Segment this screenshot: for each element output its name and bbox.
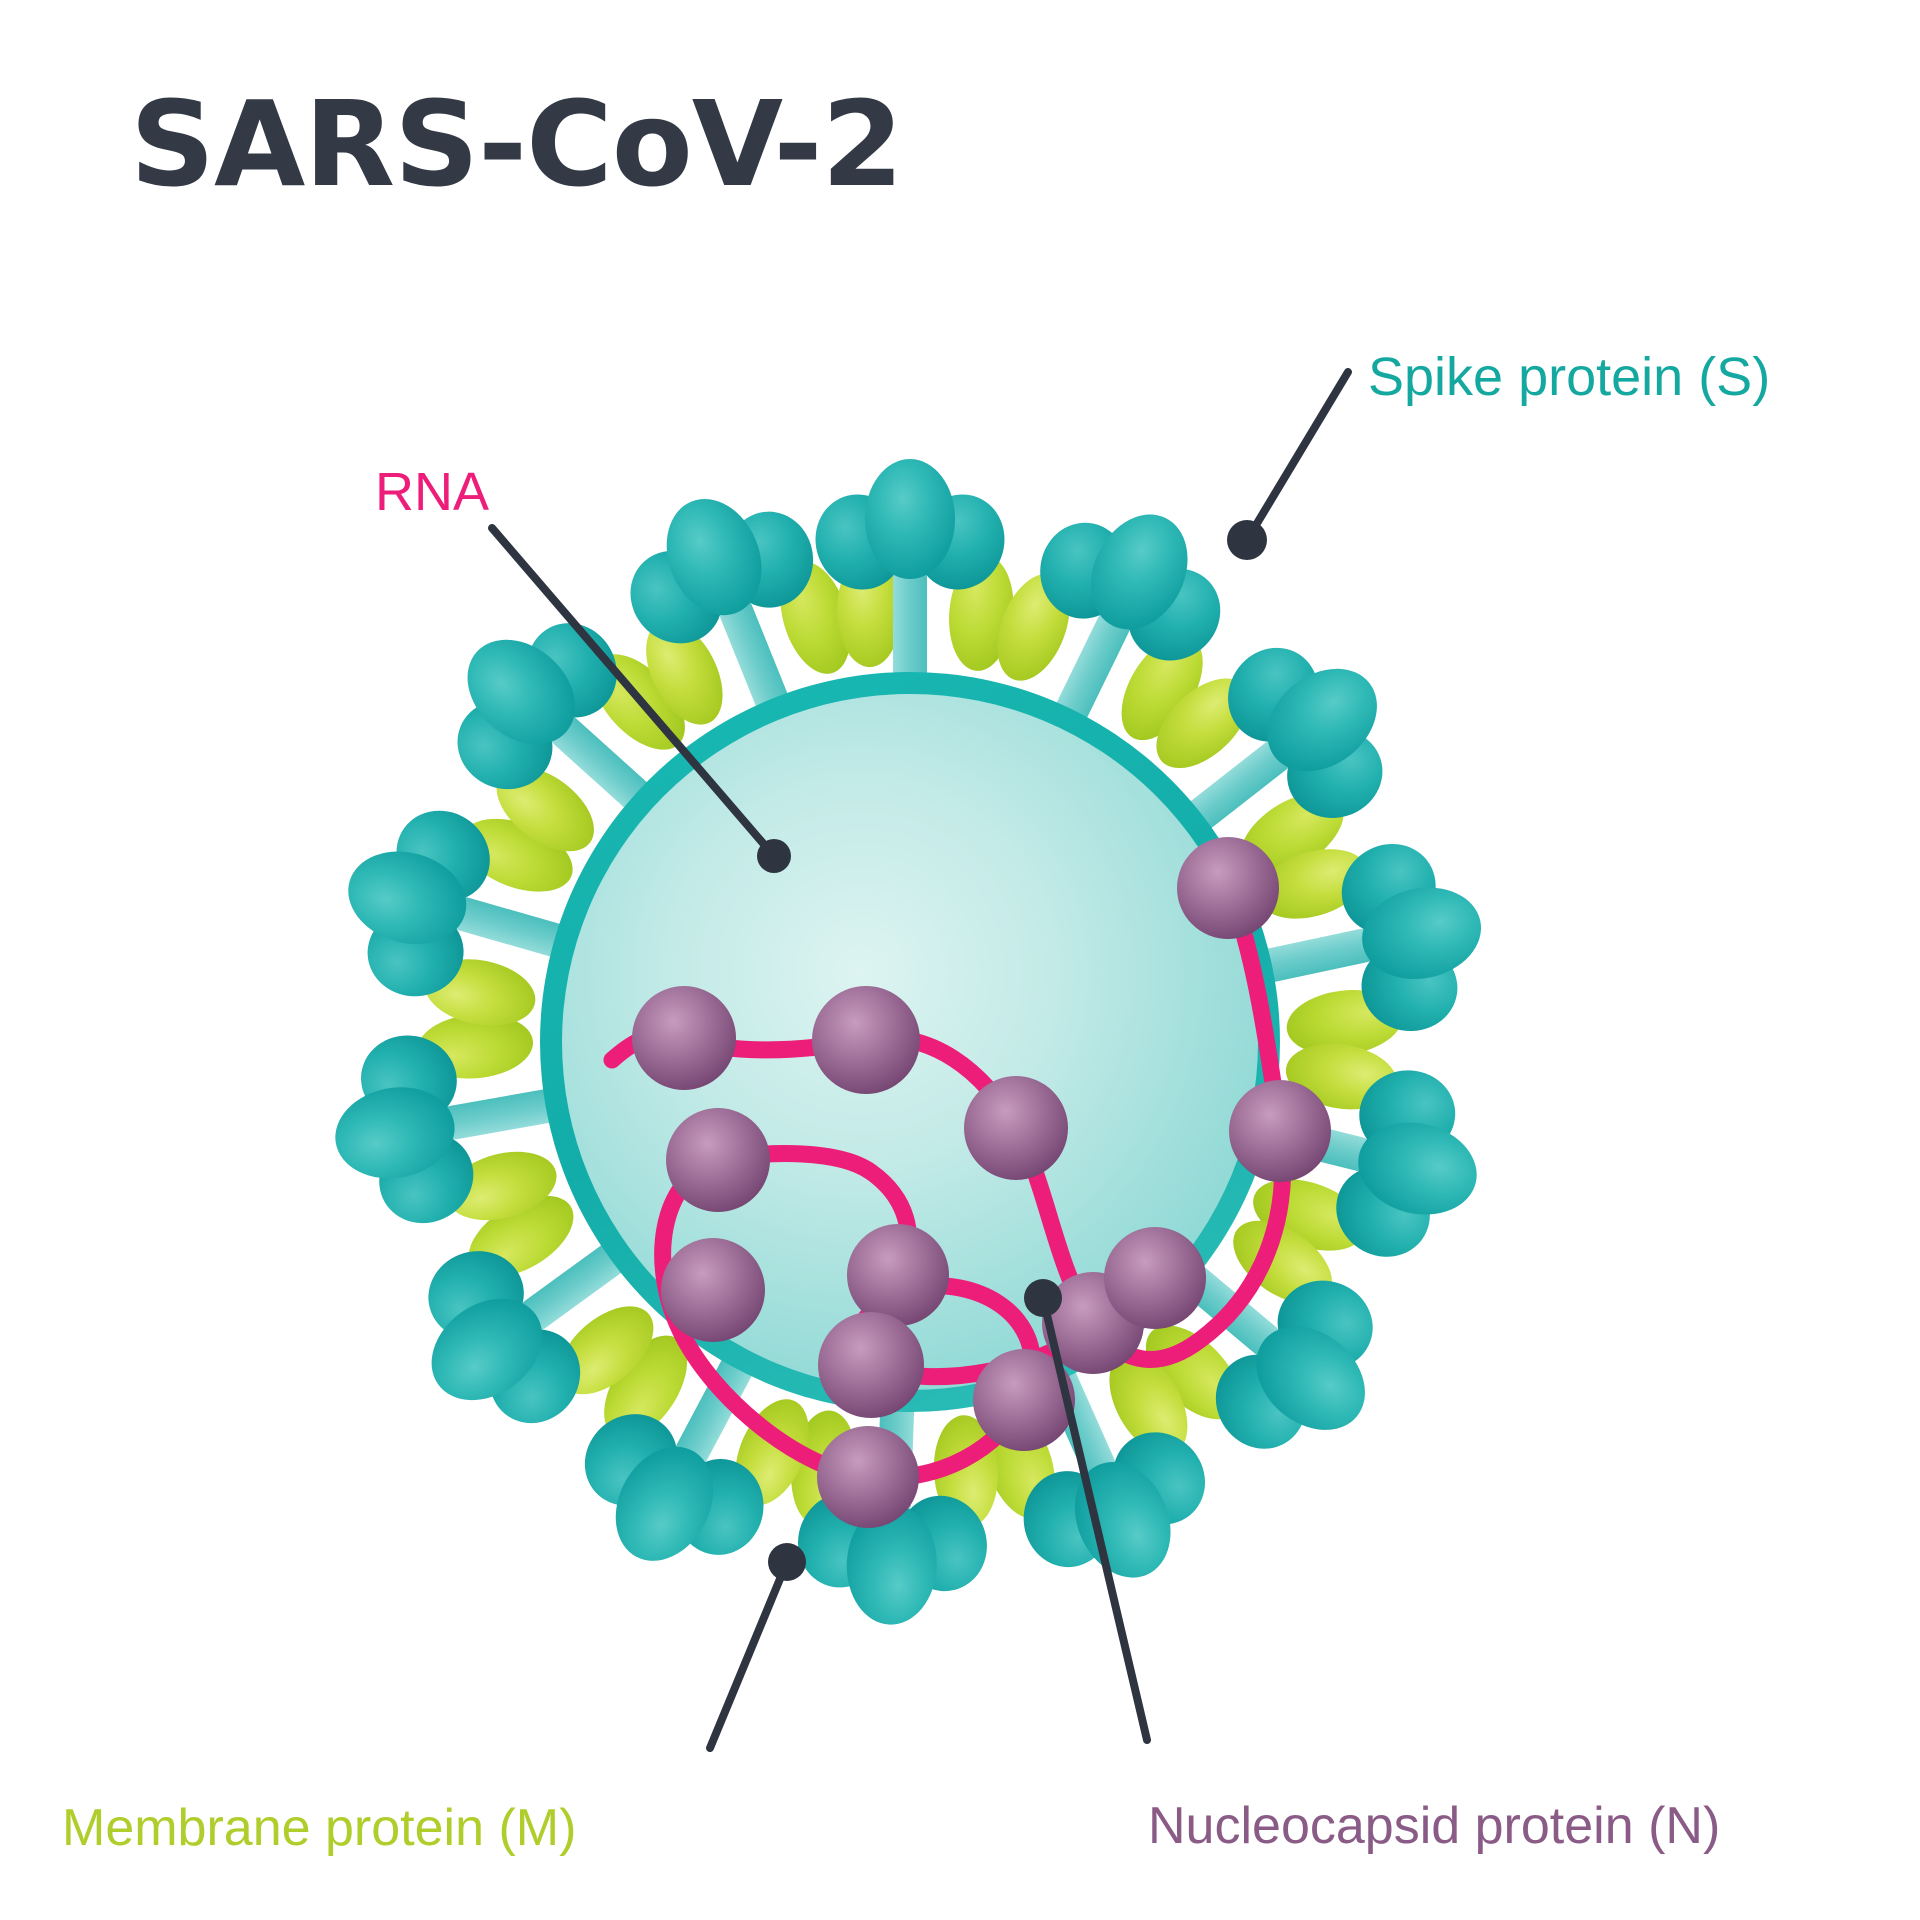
sars-cov-2-illustration: SARS-CoV-2 [0,0,1920,1920]
label-spike-protein: Spike protein (S) [1368,347,1770,407]
leader-dot-membrane [768,1543,806,1581]
leader-line-membrane [710,1562,787,1748]
nucleocapsid-bead [847,1224,949,1326]
nucleocapsid-bead [666,1108,770,1212]
label-membrane-protein: Membrane protein (M) [62,1799,576,1857]
label-nucleocapsid-protein: Nucleocapsid protein (N) [1148,1797,1720,1855]
nucleocapsid-bead [964,1076,1068,1180]
page-title: SARS-CoV-2 [130,75,903,213]
nucleocapsid-bead [818,1312,924,1418]
leader-dot-nucleocapsid [1024,1279,1062,1317]
nucleocapsid-bead [1104,1227,1206,1329]
nucleocapsid-bead [1177,837,1279,939]
nucleocapsid-bead [632,986,736,1090]
leader-dot-rna [757,839,791,873]
label-rna: RNA [375,462,489,522]
leader-dot-spike [1227,520,1267,560]
diagram-canvas: SARS-CoV-2 [0,0,1920,1920]
leader-line-spike [1247,372,1348,540]
nucleocapsid-bead [1229,1080,1331,1182]
nucleocapsid-bead [812,986,920,1094]
nucleocapsid-bead [661,1238,765,1342]
nucleocapsid-bead [817,1426,919,1528]
